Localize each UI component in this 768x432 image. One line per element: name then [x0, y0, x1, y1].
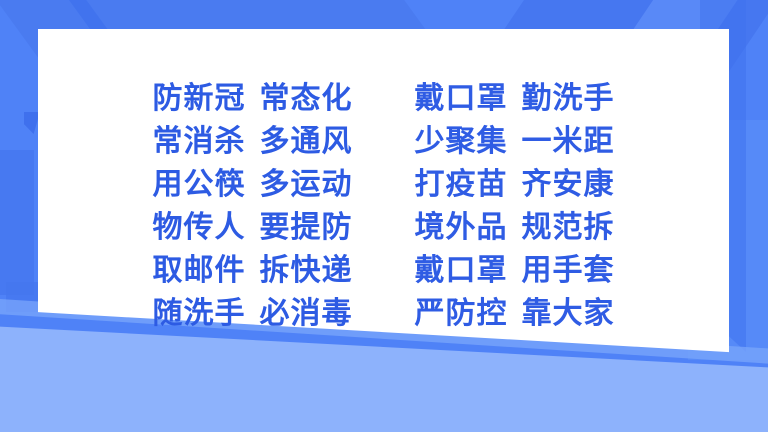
- white-content-card: [38, 29, 729, 359]
- left-edge-band-accent: [0, 150, 34, 295]
- left-notch-accent-icon: [24, 112, 40, 134]
- poster-canvas: 防新冠 常态化 常消杀 多通风 用公筷 多运动 物传人 要提防 取邮件 拆快递 …: [0, 0, 768, 432]
